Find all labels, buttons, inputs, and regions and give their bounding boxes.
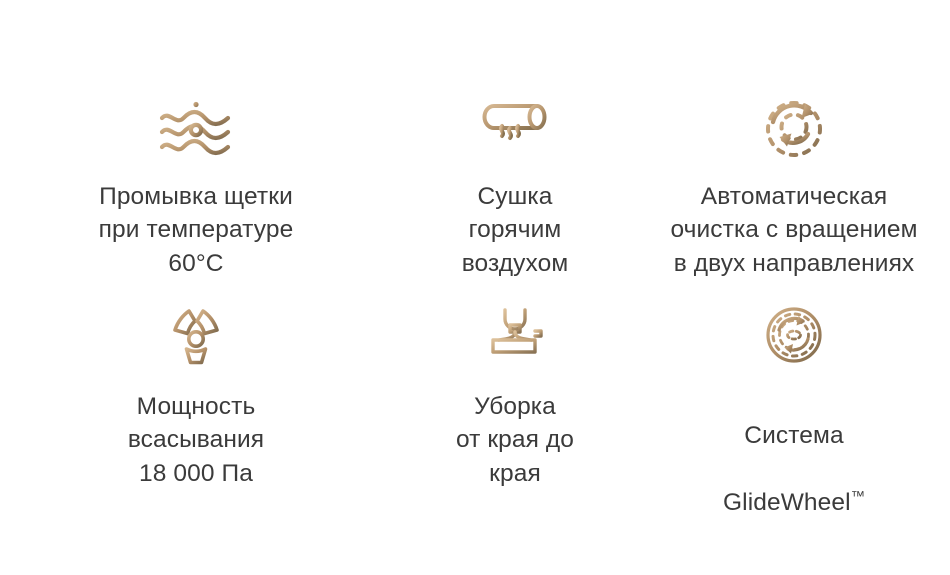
feature-label-line1: Система [744, 422, 843, 449]
feature-grid: Промывка щетки при температуре 60°C [0, 0, 950, 575]
feature-card-suction-power: Мощность всасывания 18 000 Па [10, 306, 382, 516]
feature-label-line2: GlideWheel [723, 489, 851, 516]
feature-card-auto-rotation: Автоматическая очистка с вращением в дву… [648, 96, 940, 306]
feature-label: Сушка горячим воздухом [462, 180, 569, 280]
glidewheel-icon [648, 306, 940, 364]
bidirectional-rotation-icon [648, 96, 940, 158]
feature-card-glidewheel: Система GlideWheel™ [648, 306, 940, 516]
feature-card-hot-air-drying: Сушка горячим воздухом [382, 96, 648, 306]
suction-power-icon [10, 306, 382, 368]
feature-label: Автоматическая очистка с вращением в дву… [670, 180, 917, 280]
feature-card-brush-wash: Промывка щетки при температуре 60°C [10, 96, 382, 306]
edge-to-edge-furniture-icon [382, 306, 648, 368]
feature-label: Мощность всасывания 18 000 Па [128, 390, 264, 490]
feature-card-edge-to-edge: Уборка от края до края [382, 306, 648, 516]
hot-air-dryer-icon [382, 96, 648, 158]
trademark-symbol: ™ [851, 489, 865, 505]
water-waves-icon [10, 96, 382, 158]
feature-label: Промывка щетки при температуре 60°C [99, 180, 294, 280]
feature-label: Система GlideWheel™ [723, 386, 865, 519]
feature-label: Уборка от края до края [456, 390, 574, 490]
